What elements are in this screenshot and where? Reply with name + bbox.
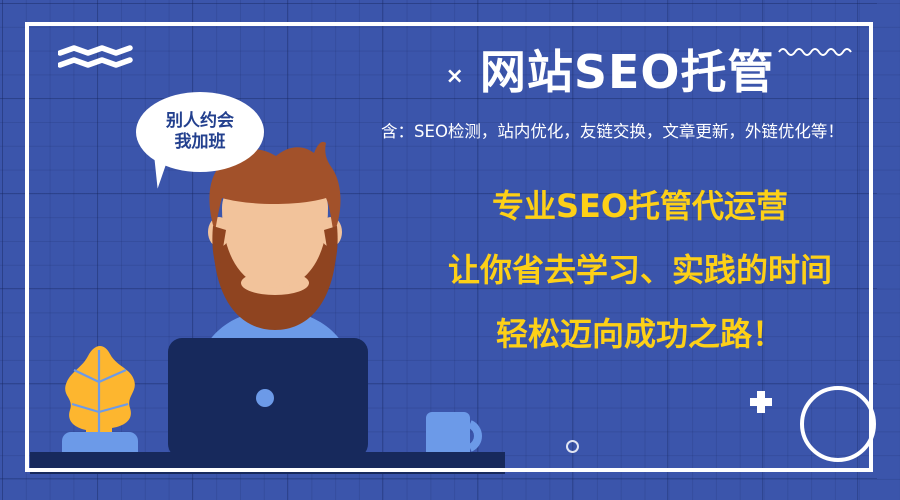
right-edge-mask: [877, 0, 900, 500]
plus-decoration-icon: [750, 391, 772, 413]
potted-plant-icon: [62, 346, 138, 464]
page-subtitle: 含：SEO检测，站内优化，友链交换，文章更新，外链优化等！: [340, 118, 885, 142]
seo-hosting-banner: 别人约会 我加班 × 网站SEO托管 含：SEO检测，站内优化，友链交换，文章更…: [0, 0, 900, 500]
page-title: 网站SEO托管: [480, 46, 775, 99]
slogan-line-3: 轻松迈向成功之路！: [400, 318, 880, 350]
desk-surface: [30, 452, 505, 474]
slogan-line-2: 让你省去学习、实践的时间: [400, 254, 880, 286]
laptop-icon: [168, 338, 368, 458]
headline-bullet-icon: ×: [445, 56, 463, 88]
slogan-list: 专业SEO托管代运营 让你省去学习、实践的时间 轻松迈向成功之路！: [400, 190, 880, 350]
headline-row: × 网站SEO托管: [340, 46, 880, 99]
slogan-line-1: 专业SEO托管代运营: [400, 190, 880, 222]
speech-bubble: 别人约会 我加班: [136, 92, 264, 172]
small-circle-decoration-icon: [566, 440, 579, 453]
wave-decoration-top-left: [58, 44, 138, 72]
speech-bubble-line-2: 我加班: [175, 132, 226, 153]
speech-bubble-line-1: 别人约会: [166, 111, 234, 132]
